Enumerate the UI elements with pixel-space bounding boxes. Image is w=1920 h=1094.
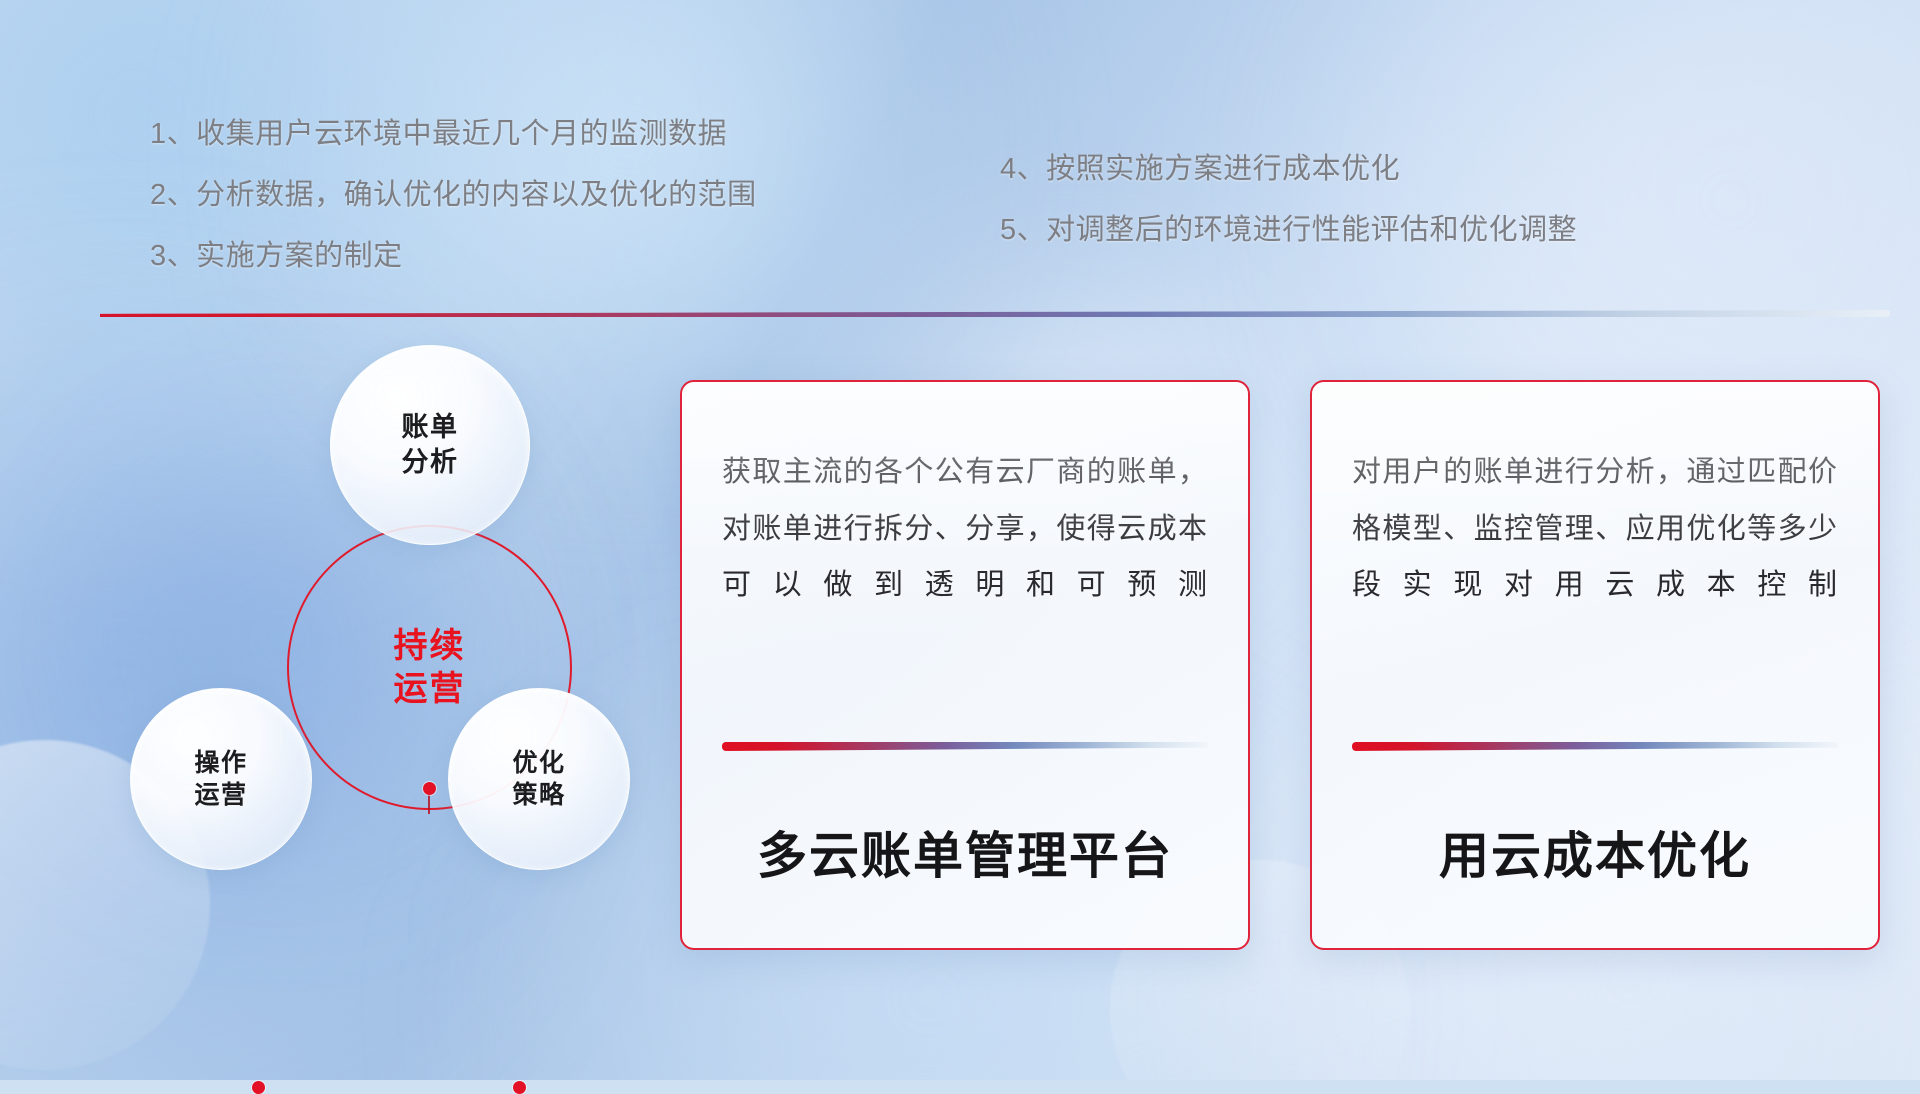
steps-left-column: 1、收集用户云环境中最近几个月的监测数据 2、分析数据，确认优化的内容以及优化的… <box>150 120 757 303</box>
card-multi-cloud-billing[interactable]: 获取主流的各个公有云厂商的账单，对账单进行拆分、分享，使得云成本可以做到透明和可… <box>680 380 1250 950</box>
card-title: 多云账单管理平台 <box>722 816 1208 888</box>
node-label-line2: 运营 <box>194 779 247 811</box>
node-label-line1: 操作 <box>194 747 247 779</box>
diagram-node-billing-analysis[interactable]: 账单 分析 <box>330 345 530 545</box>
connector-stem <box>428 792 430 814</box>
steps-right-column: 4、按照实施方案进行成本优化 5、对调整后的环境进行性能评估和优化调整 <box>1000 155 1577 277</box>
diagram-node-optimization-strategy[interactable]: 优化 策略 <box>448 688 630 870</box>
node-label-line2: 策略 <box>512 779 565 811</box>
card-body-text: 对用户的账单进行分析，通过匹配价格模型、监控管理、应用优化等多少段实现对用云成本… <box>1352 444 1838 614</box>
connector-dot-top <box>423 782 436 795</box>
step-item: 1、收集用户云环境中最近几个月的监测数据 <box>150 120 757 149</box>
node-label-line2: 分析 <box>402 445 459 480</box>
diagram-node-operations[interactable]: 操作 运营 <box>130 688 312 870</box>
step-item: 3、实施方案的制定 <box>150 242 757 271</box>
node-label-line1: 优化 <box>512 747 565 779</box>
step-item: 2、分析数据，确认优化的内容以及优化的范围 <box>150 181 757 210</box>
node-label-line1: 账单 <box>402 410 459 445</box>
card-divider <box>1352 742 1838 751</box>
connector-dot-bottom-right <box>513 1081 526 1094</box>
center-label-line1: 持续 <box>394 625 466 668</box>
step-item: 5、对调整后的环境进行性能评估和优化调整 <box>1000 216 1577 245</box>
card-body-text: 获取主流的各个公有云厂商的账单，对账单进行拆分、分享，使得云成本可以做到透明和可… <box>722 444 1208 614</box>
card-divider <box>722 742 1208 751</box>
feature-cards: 获取主流的各个公有云厂商的账单，对账单进行拆分、分享，使得云成本可以做到透明和可… <box>680 380 1900 950</box>
step-item: 4、按照实施方案进行成本优化 <box>1000 155 1577 184</box>
center-label-line2: 运营 <box>394 668 466 711</box>
connector-dot-bottom-left <box>252 1081 265 1094</box>
card-title: 用云成本优化 <box>1352 816 1838 888</box>
card-cloud-cost-optimization[interactable]: 对用户的账单进行分析，通过匹配价格模型、监控管理、应用优化等多少段实现对用云成本… <box>1310 380 1880 950</box>
circle-diagram: 持续 运营 账单 分析 操作 运营 优化 策略 <box>100 355 630 945</box>
